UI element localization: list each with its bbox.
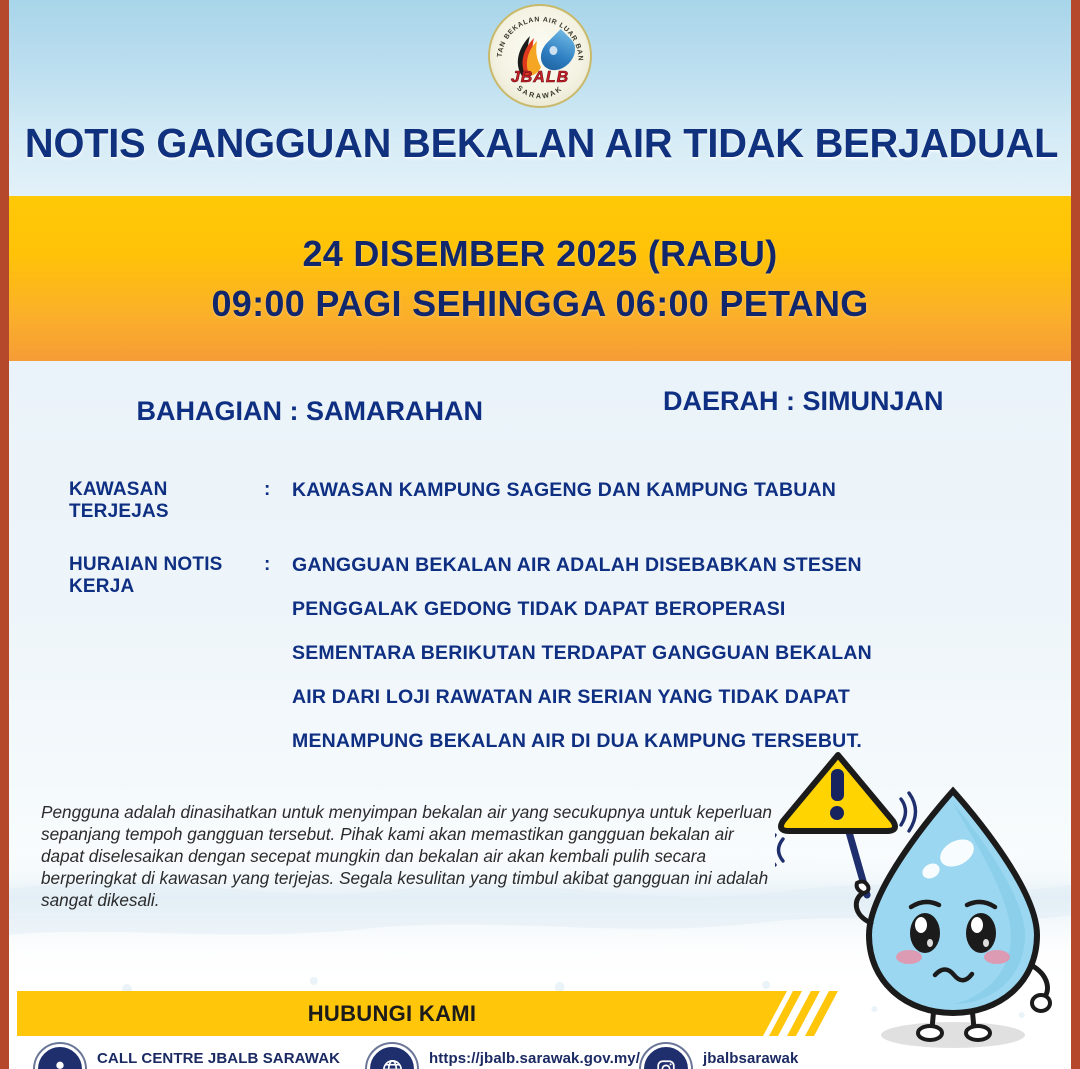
person-icon xyxy=(35,1044,85,1069)
jbalb-logo: JABATAN BEKALAN AIR LUAR BANDAR SARAWAK xyxy=(488,4,592,108)
work-description-line: GANGGUAN BEKALAN AIR ADALAH DISEBABKAN S… xyxy=(292,554,872,577)
notice-date: 24 DISEMBER 2025 (RABU) xyxy=(302,233,777,275)
notice-poster: JABATAN BEKALAN AIR LUAR BANDAR SARAWAK xyxy=(0,0,1080,1069)
work-description-lines: GANGGUAN BEKALAN AIR ADALAH DISEBABKAN S… xyxy=(292,554,872,774)
bar-slashes-decoration xyxy=(779,991,849,1036)
notice-time: 09:00 PAGI SEHINGGA 06:00 PETANG xyxy=(211,283,868,325)
work-description-field: HURAIAN NOTIS KERJA : GANGGUAN BEKALAN A… xyxy=(9,554,872,774)
work-description-line: PENGGALAK GEDONG TIDAK DAPAT BEROPERASI xyxy=(292,598,872,621)
work-description-line: SEMENTARA BERIKUTAN TERDAPAT GANGGUAN BE… xyxy=(292,642,872,665)
contact-section: HUBUNGI KAMI CALL CENTRE JBALB SARAWAK 0… xyxy=(9,839,1071,1069)
contact-call-centre[interactable]: CALL CENTRE JBALB SARAWAK 082-262211 JBA… xyxy=(35,1044,340,1069)
logo-circle: JABATAN BEKALAN AIR LUAR BANDAR SARAWAK xyxy=(488,4,592,108)
logo-acronym: JBALB xyxy=(490,69,590,87)
affected-area-colon: : xyxy=(264,479,292,523)
affected-area-label: KAWASAN TERJEJAS xyxy=(9,479,264,523)
call-centre-name: CALL CENTRE JBALB SARAWAK xyxy=(97,1049,340,1069)
affected-area-field: KAWASAN TERJEJAS : KAWASAN KAMPUNG SAGEN… xyxy=(9,479,836,523)
poster-header: JABATAN BEKALAN AIR LUAR BANDAR SARAWAK xyxy=(9,0,1071,196)
poster-body: BAHAGIAN : SAMARAHAN DAERAH : SIMUNJAN K… xyxy=(9,361,1071,1069)
affected-area-value: KAWASAN KAMPUNG SAGENG DAN KAMPUNG TABUA… xyxy=(292,479,836,523)
daerah-text: DAERAH : SIMUNJAN xyxy=(663,386,944,427)
bahagian-text: BAHAGIAN : SAMARAHAN xyxy=(137,396,483,427)
globe-icon xyxy=(367,1044,417,1069)
instagram-icon xyxy=(641,1044,691,1069)
work-description-line: AIR DARI LOJI RAWATAN AIR SERIAN YANG TI… xyxy=(292,686,872,709)
work-description-line: MENAMPUNG BEKALAN AIR DI DUA KAMPUNG TER… xyxy=(292,730,872,753)
region-row: BAHAGIAN : SAMARAHAN DAERAH : SIMUNJAN xyxy=(9,396,1071,427)
work-description-label: HURAIAN NOTIS KERJA xyxy=(9,554,264,774)
contact-instagram[interactable]: jbalbsarawak xyxy=(641,1044,798,1069)
contact-bar-title: HUBUNGI KAMI xyxy=(308,1001,477,1027)
page-title: NOTIS GANGGUAN BEKALAN AIR TIDAK BERJADU… xyxy=(25,120,1055,167)
call-centre-text: CALL CENTRE JBALB SARAWAK 082-262211 JBA… xyxy=(97,1044,340,1069)
contact-website[interactable]: https://jbalb.sarawak.gov.my/ xyxy=(367,1044,640,1069)
contact-bar: HUBUNGI KAMI xyxy=(17,991,787,1036)
work-description-colon: : xyxy=(264,554,292,774)
website-url[interactable]: https://jbalb.sarawak.gov.my/ xyxy=(429,1044,640,1069)
instagram-handle[interactable]: jbalbsarawak xyxy=(703,1044,798,1069)
date-time-banner: 24 DISEMBER 2025 (RABU) 09:00 PAGI SEHIN… xyxy=(9,196,1071,361)
